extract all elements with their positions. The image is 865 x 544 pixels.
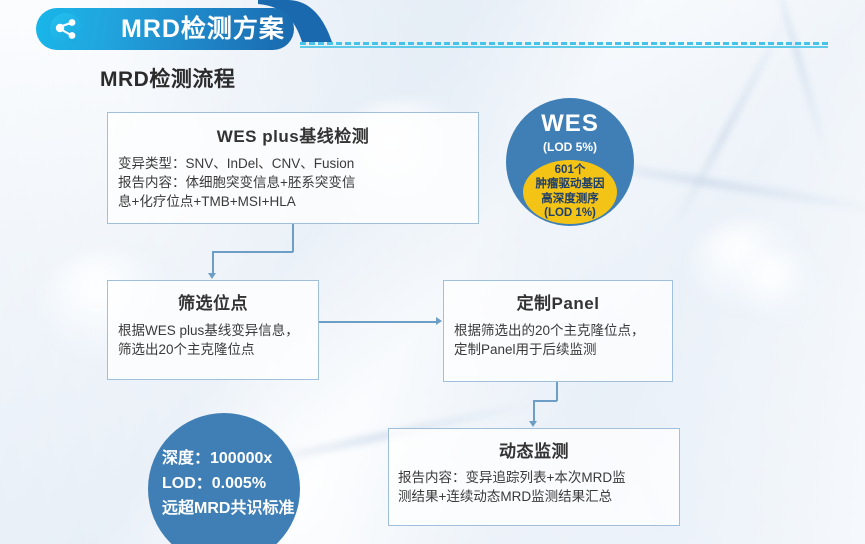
wes-inner-ellipse: 601个 肿瘤驱动基因 高深度测序 (LOD 1%) (523, 160, 617, 224)
flow-box-custom-panel[interactable]: 定制Panel 根据筛选出的20个主克隆位点， 定制Panel用于后续监测 (443, 280, 673, 382)
connector-panel-to-monitor (533, 400, 557, 402)
flow-box-filter-sites[interactable]: 筛选位点 根据WES plus基线变异信息， 筛选出20个主克隆位点 (107, 280, 319, 380)
wes-callout-subtitle: (LOD 5%) (506, 140, 634, 154)
connector-arrow-right (436, 317, 442, 325)
flow-box-dynamic-monitor[interactable]: 动态监测 报告内容：变异追踪列表+本次MRD监 测结果+连续动态MRD监测结果汇… (388, 428, 680, 526)
wes-callout-labels: WES (LOD 5%) (506, 110, 634, 154)
flow-box-heading: 筛选位点 (108, 289, 318, 314)
flow-box-heading: 定制Panel (444, 289, 672, 314)
header-title: MRD检测方案 (121, 8, 285, 50)
connector-wes-to-filter (212, 251, 214, 274)
connector-filter-to-panel (319, 321, 436, 323)
depth-callout-circle: 深度：100000x LOD：0.005% 远超MRD共识标准 (148, 413, 300, 544)
flow-box-body: 根据筛选出的20个主克隆位点， 定制Panel用于后续监测 (454, 321, 672, 359)
wes-callout-title: WES (506, 110, 634, 138)
connector-wes-to-filter (212, 251, 293, 253)
flow-box-body: 变异类型：SNV、InDel、CNV、Fusion 报告内容：体细胞突变信息+胚… (118, 154, 478, 211)
flow-box-body: 报告内容：变异追踪列表+本次MRD监 测结果+连续动态MRD监测结果汇总 (398, 468, 679, 506)
connector-panel-to-monitor (533, 400, 535, 422)
header-banner: MRD检测方案 (36, 8, 294, 50)
background-texture (735, 250, 825, 320)
wes-callout-circle: WES (LOD 5%) 601个 肿瘤驱动基因 高深度测序 (LOD 1%) (506, 98, 634, 226)
flow-box-heading: 动态监测 (389, 437, 679, 462)
connector-arrow-down (208, 273, 216, 279)
flow-box-heading: WES plus基线检测 (108, 122, 478, 147)
background-texture (769, 0, 831, 161)
background-texture (690, 220, 810, 310)
header-dashed-rule (300, 42, 828, 45)
flow-box-wes-baseline[interactable]: WES plus基线检测 变异类型：SNV、InDel、CNV、Fusion 报… (107, 112, 479, 224)
slide-canvas: MRD检测方案 MRD检测流程 WES plus基线检测 变异类型：SNV、In… (0, 0, 865, 544)
share-node-icon (50, 13, 82, 45)
header-solid-rule (300, 46, 828, 48)
connector-wes-to-filter (292, 224, 294, 252)
connector-arrow-down (529, 421, 537, 427)
flow-box-body: 根据WES plus基线变异信息， 筛选出20个主克隆位点 (118, 321, 318, 359)
connector-panel-to-monitor (556, 382, 558, 401)
page-title: MRD检测流程 (100, 63, 235, 93)
